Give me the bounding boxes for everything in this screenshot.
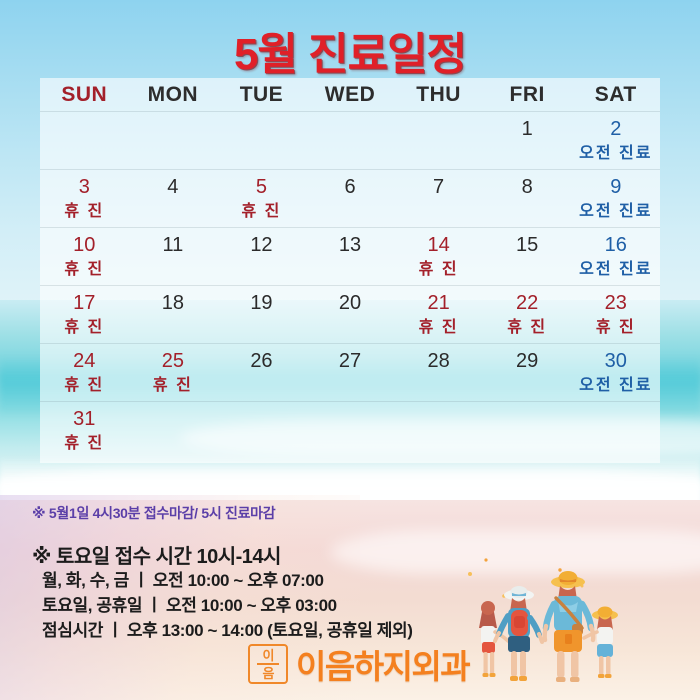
day-status-note: 휴 진 bbox=[40, 432, 129, 456]
day-number: 14 bbox=[394, 232, 483, 258]
logo-mark-divider bbox=[257, 663, 279, 665]
calendar-day-cell[interactable]: 12 bbox=[217, 228, 306, 285]
day-number: 15 bbox=[483, 232, 572, 258]
page-title: 5월 진료일정 bbox=[0, 18, 700, 82]
calendar-header-row: SUN MON TUE WED THU FRI SAT bbox=[40, 78, 660, 111]
calendar-day-cell[interactable]: 19 bbox=[217, 286, 306, 343]
weekday-header-fri: FRI bbox=[483, 83, 572, 107]
calendar-day-cell[interactable]: 4 bbox=[129, 170, 218, 227]
calendar-day-cell[interactable]: 28 bbox=[394, 344, 483, 401]
calendar-week-row: 12오전 진료 bbox=[40, 111, 660, 169]
calendar-day-cell[interactable]: 17휴 진 bbox=[40, 286, 129, 343]
adult-mother bbox=[495, 586, 542, 681]
day-number: 13 bbox=[306, 232, 395, 258]
day-number: 10 bbox=[40, 232, 129, 258]
operating-hours-list: 월, 화, 수, 금 ㅣ 오전 10:00 ~ 오후 07:00 토요일, 공휴… bbox=[42, 568, 413, 643]
day-status-note: 오전 진료 bbox=[571, 258, 660, 282]
calendar-week-row: 24휴 진25휴 진2627282930오전 진료 bbox=[40, 343, 660, 401]
day-status-note: 휴 진 bbox=[40, 316, 129, 340]
calendar-empty-cell bbox=[394, 402, 483, 463]
calendar-day-cell[interactable]: 9오전 진료 bbox=[571, 170, 660, 227]
calendar-day-cell[interactable]: 6 bbox=[306, 170, 395, 227]
day-number: 17 bbox=[40, 290, 129, 316]
calendar-day-cell[interactable]: 23휴 진 bbox=[571, 286, 660, 343]
day-status-note: 휴 진 bbox=[394, 258, 483, 282]
clinic-schedule-poster: 5월 진료일정 SUN MON TUE WED THU FRI SAT 12오전… bbox=[0, 0, 700, 700]
weekday-header-thu: THU bbox=[394, 83, 483, 107]
family-beach-illustration bbox=[452, 552, 700, 700]
day-number: 12 bbox=[217, 232, 306, 258]
day-status-note: 오전 진료 bbox=[571, 374, 660, 398]
calendar-week-row: 3휴 진45휴 진6789오전 진료 bbox=[40, 169, 660, 227]
day-number: 16 bbox=[571, 232, 660, 258]
hours-weekday: 월, 화, 수, 금 ㅣ 오전 10:00 ~ 오후 07:00 bbox=[42, 568, 413, 593]
calendar-empty-cell bbox=[306, 112, 395, 169]
weekday-header-tue: TUE bbox=[217, 83, 306, 107]
day-number: 31 bbox=[40, 406, 129, 432]
calendar-day-cell[interactable]: 27 bbox=[306, 344, 395, 401]
calendar-day-cell[interactable]: 5휴 진 bbox=[217, 170, 306, 227]
calendar-day-cell[interactable]: 22휴 진 bbox=[483, 286, 572, 343]
weekday-header-mon: MON bbox=[129, 83, 218, 107]
calendar-day-cell[interactable]: 15 bbox=[483, 228, 572, 285]
day-status-note: 오전 진료 bbox=[571, 142, 660, 166]
calendar-day-cell[interactable]: 14휴 진 bbox=[394, 228, 483, 285]
calendar-day-cell[interactable]: 24휴 진 bbox=[40, 344, 129, 401]
weekday-header-sat: SAT bbox=[571, 83, 660, 107]
calendar-day-cell[interactable]: 3휴 진 bbox=[40, 170, 129, 227]
calendar-day-cell[interactable]: 25휴 진 bbox=[129, 344, 218, 401]
calendar-empty-cell bbox=[571, 402, 660, 463]
day-status-note: 휴 진 bbox=[217, 200, 306, 224]
calendar-grid: SUN MON TUE WED THU FRI SAT 12오전 진료3휴 진4… bbox=[40, 78, 660, 463]
calendar-empty-cell bbox=[394, 112, 483, 169]
calendar-day-cell[interactable]: 30오전 진료 bbox=[571, 344, 660, 401]
day-status-note: 휴 진 bbox=[129, 374, 218, 398]
logo-mark-bottom: 음 bbox=[263, 667, 274, 680]
day-number: 2 bbox=[571, 116, 660, 142]
day-status-note: 휴 진 bbox=[394, 316, 483, 340]
calendar-day-cell[interactable]: 21휴 진 bbox=[394, 286, 483, 343]
logo-mark-top: 이 bbox=[263, 649, 274, 662]
day-number: 30 bbox=[571, 348, 660, 374]
day-status-note: 휴 진 bbox=[40, 258, 129, 282]
clinic-logo[interactable]: 이 음 이음하지외과 bbox=[248, 640, 469, 688]
calendar-empty-cell bbox=[306, 402, 395, 463]
day-number: 4 bbox=[129, 174, 218, 200]
calendar-day-cell[interactable]: 20 bbox=[306, 286, 395, 343]
day-number: 27 bbox=[306, 348, 395, 374]
day-number: 3 bbox=[40, 174, 129, 200]
day-status-note: 휴 진 bbox=[40, 374, 129, 398]
logo-mark-icon: 이 음 bbox=[248, 644, 288, 684]
calendar-day-cell[interactable]: 16오전 진료 bbox=[571, 228, 660, 285]
calendar-day-cell[interactable]: 11 bbox=[129, 228, 218, 285]
clinic-name: 이음하지외과 bbox=[296, 640, 469, 688]
day-number: 21 bbox=[394, 290, 483, 316]
notice-reception-cutoff: ※ 5월1일 4시30분 접수마감/ 5시 진료마감 bbox=[32, 503, 275, 523]
calendar-empty-cell bbox=[129, 112, 218, 169]
day-number: 9 bbox=[571, 174, 660, 200]
weekday-header-wed: WED bbox=[306, 83, 395, 107]
calendar-day-cell[interactable]: 1 bbox=[483, 112, 572, 169]
calendar-day-cell[interactable]: 2오전 진료 bbox=[571, 112, 660, 169]
day-number: 6 bbox=[306, 174, 395, 200]
child-left bbox=[479, 601, 508, 677]
day-number: 18 bbox=[129, 290, 218, 316]
calendar-empty-cell bbox=[483, 402, 572, 463]
notice-saturday-hours: ※ 토요일 접수 시간 10시-14시 bbox=[32, 540, 281, 569]
day-number: 28 bbox=[394, 348, 483, 374]
day-number: 20 bbox=[306, 290, 395, 316]
day-number: 24 bbox=[40, 348, 129, 374]
calendar-day-cell[interactable]: 26 bbox=[217, 344, 306, 401]
calendar-day-cell[interactable]: 10휴 진 bbox=[40, 228, 129, 285]
calendar-day-cell[interactable]: 18 bbox=[129, 286, 218, 343]
calendar-weeks: 12오전 진료3휴 진45휴 진6789오전 진료10휴 진11121314휴 … bbox=[40, 111, 660, 463]
day-number: 26 bbox=[217, 348, 306, 374]
day-number: 8 bbox=[483, 174, 572, 200]
day-status-note: 휴 진 bbox=[40, 200, 129, 224]
day-number: 11 bbox=[129, 232, 218, 258]
calendar-day-cell[interactable]: 13 bbox=[306, 228, 395, 285]
calendar-day-cell[interactable]: 8 bbox=[483, 170, 572, 227]
calendar-empty-cell bbox=[40, 112, 129, 169]
day-number: 25 bbox=[129, 348, 218, 374]
calendar-week-row: 31휴 진 bbox=[40, 401, 660, 463]
calendar-empty-cell bbox=[217, 112, 306, 169]
calendar-empty-cell bbox=[217, 402, 306, 463]
calendar-day-cell[interactable]: 31휴 진 bbox=[40, 402, 129, 463]
day-status-note: 휴 진 bbox=[483, 316, 572, 340]
calendar-day-cell[interactable]: 7 bbox=[394, 170, 483, 227]
day-status-note: 오전 진료 bbox=[571, 200, 660, 224]
hours-saturday: 토요일, 공휴일 ㅣ 오전 10:00 ~ 오후 03:00 bbox=[42, 593, 413, 618]
weekday-header-sun: SUN bbox=[40, 83, 129, 107]
calendar-week-row: 10휴 진11121314휴 진1516오전 진료 bbox=[40, 227, 660, 285]
adult-father bbox=[545, 571, 594, 682]
day-number: 29 bbox=[483, 348, 572, 374]
day-number: 7 bbox=[394, 174, 483, 200]
day-number: 5 bbox=[217, 174, 306, 200]
day-status-note: 휴 진 bbox=[571, 316, 660, 340]
calendar-week-row: 17휴 진18192021휴 진22휴 진23휴 진 bbox=[40, 285, 660, 343]
day-number: 19 bbox=[217, 290, 306, 316]
day-number: 1 bbox=[483, 116, 572, 142]
day-number: 23 bbox=[571, 290, 660, 316]
calendar-day-cell[interactable]: 29 bbox=[483, 344, 572, 401]
day-number: 22 bbox=[483, 290, 572, 316]
calendar-empty-cell bbox=[129, 402, 218, 463]
